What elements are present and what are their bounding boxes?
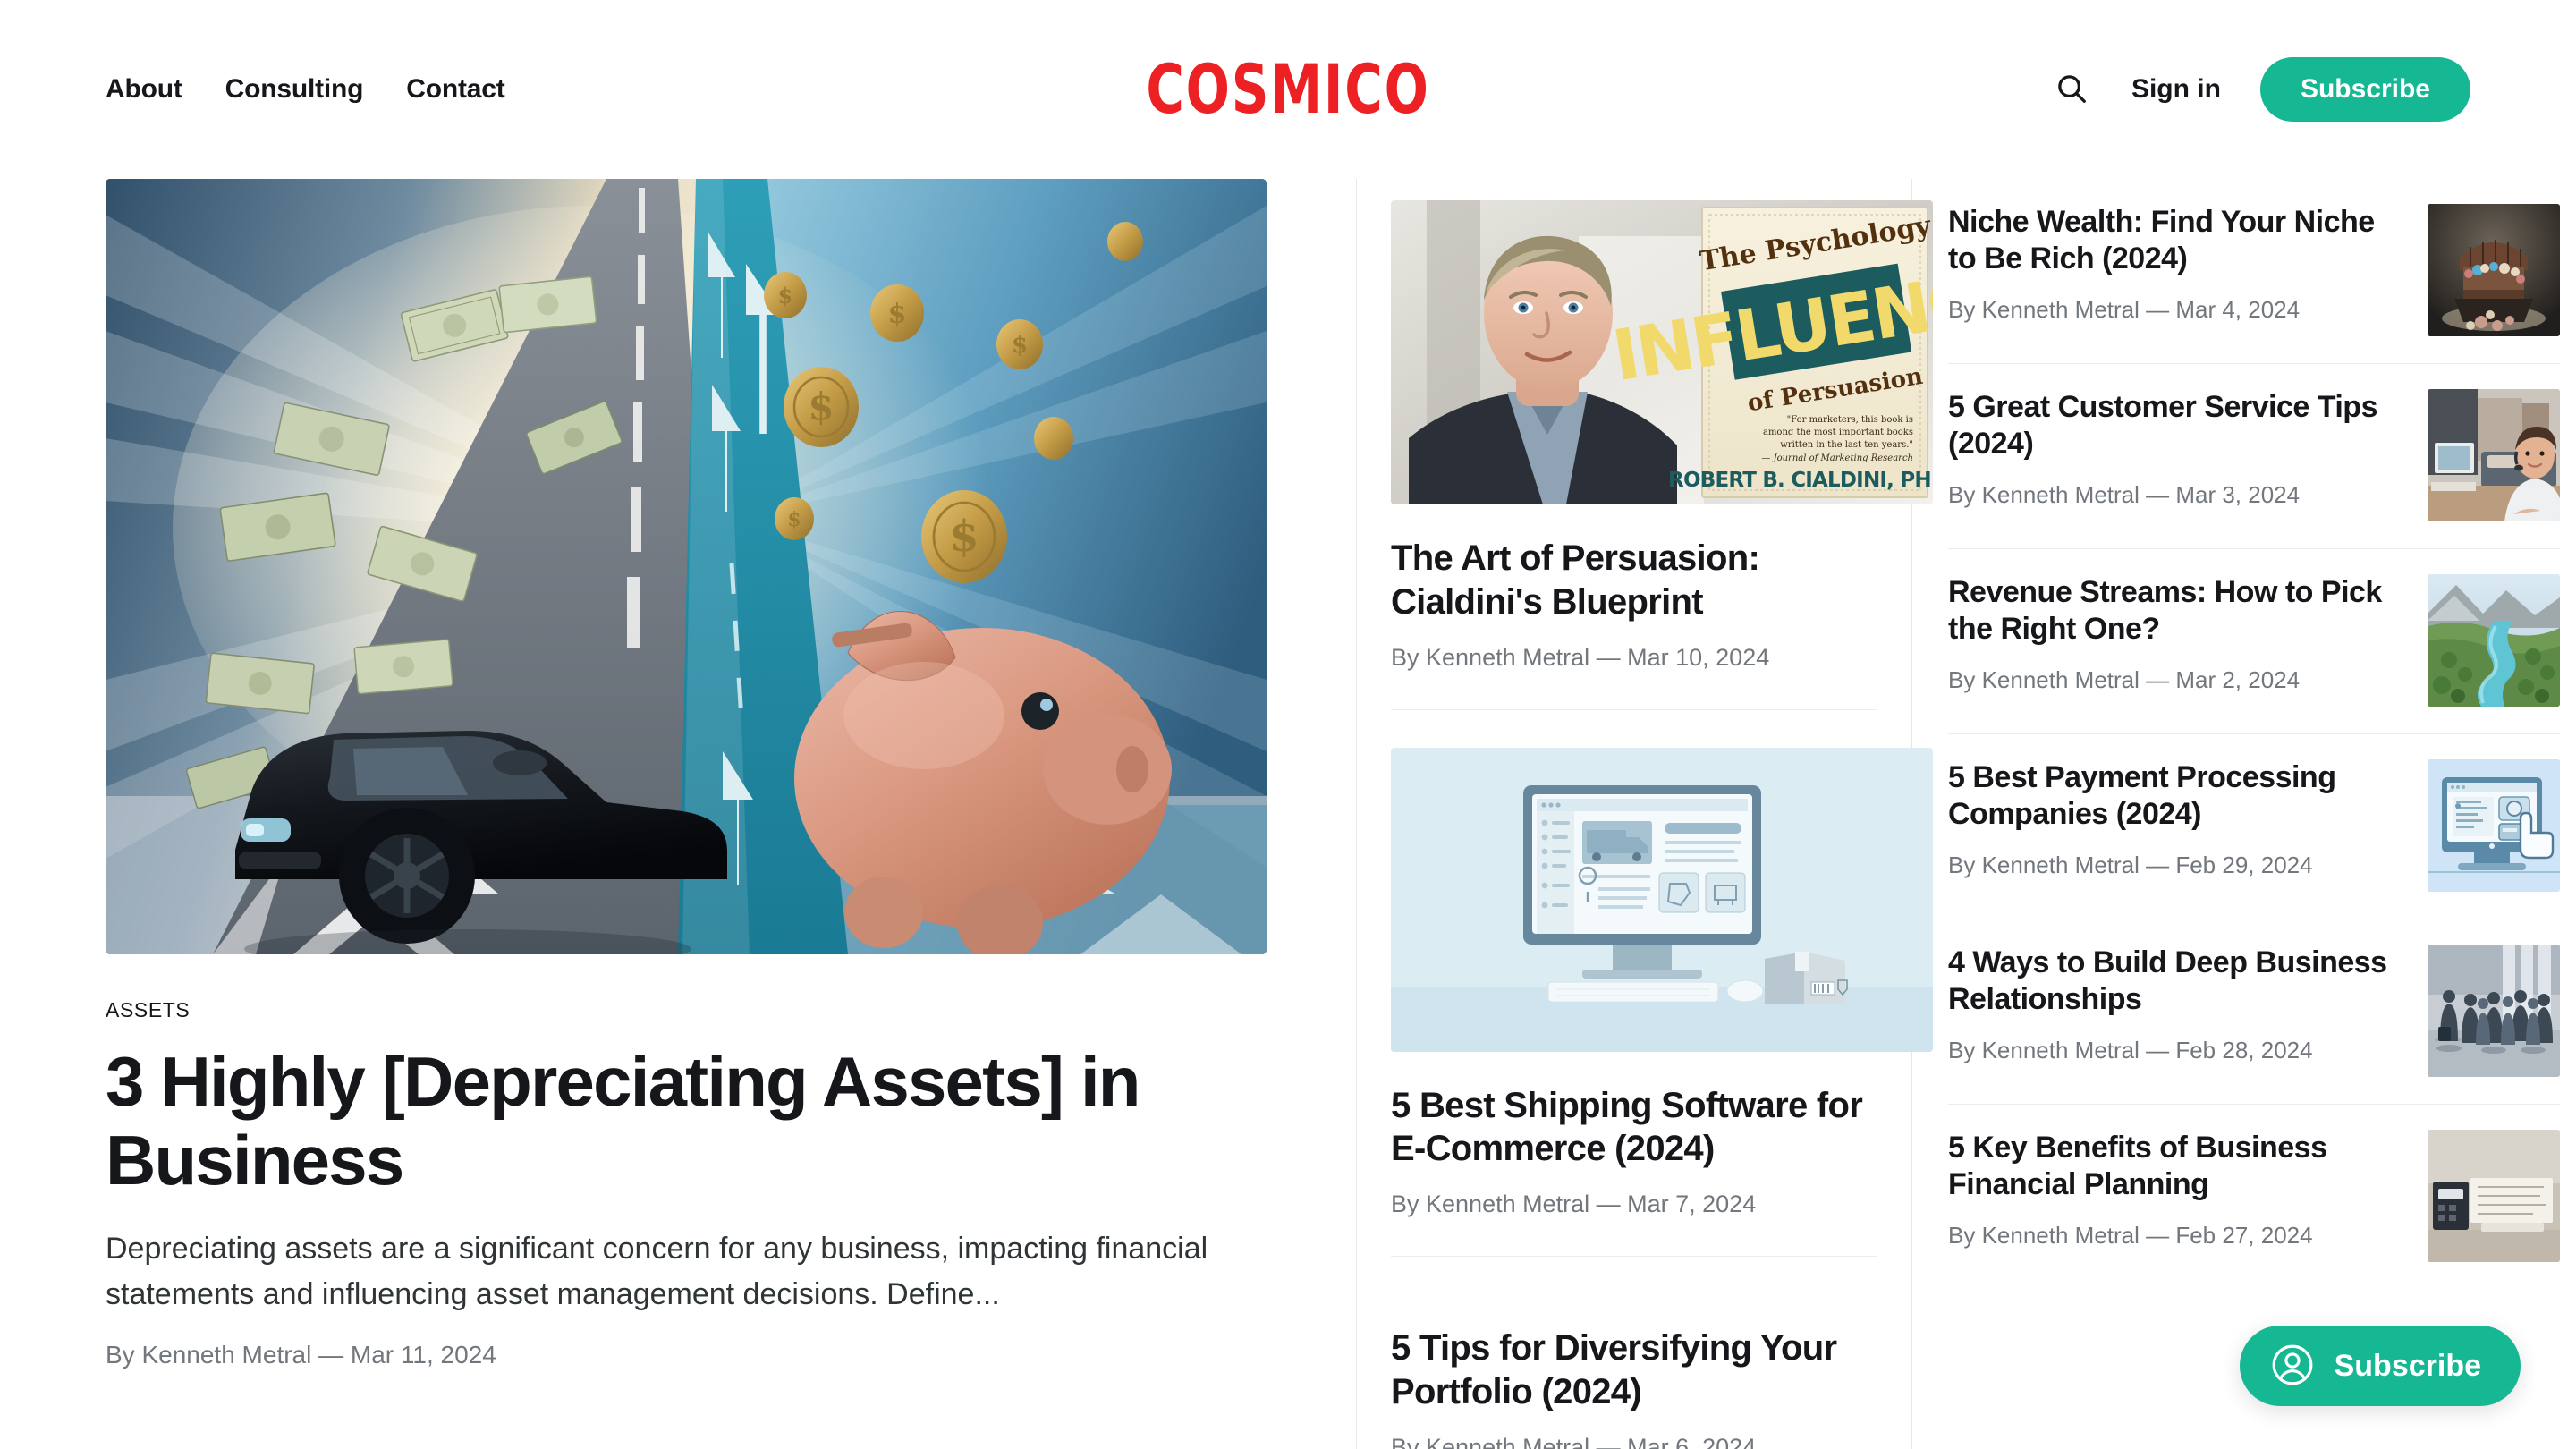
customer-service-agent-icon (2428, 389, 2560, 521)
shipping-dashboard-illustration (1391, 748, 1933, 1052)
svg-text:$: $ (949, 512, 979, 562)
list-item[interactable]: 5 Key Benefits of Business Financial Pla… (1948, 1104, 2560, 1289)
svg-text:$: $ (778, 283, 793, 309)
business-networking-icon (2428, 945, 2560, 1077)
list-item-thumbnail[interactable] (2428, 759, 2560, 892)
article-card[interactable]: 5 Best Shipping Software for E-Commerce … (1391, 709, 1877, 1257)
list-item[interactable]: 4 Ways to Build Deep Business Relationsh… (1948, 919, 2560, 1104)
svg-text:written in the last ten years.: written in the last ten years." (1780, 440, 1913, 450)
treasure-chest-icon (2428, 204, 2560, 336)
svg-text:— Journal of Marketing Researc: — Journal of Marketing Research (1761, 453, 1913, 463)
hero-illustration: $ $ $ $ $ $ $ (106, 179, 1267, 954)
featured-tag[interactable]: ASSETS (106, 998, 1284, 1022)
subscribe-button[interactable]: Subscribe (2260, 57, 2470, 122)
list-item[interactable]: Revenue Streams: How to Pick the Right O… (1948, 548, 2560, 733)
article-title[interactable]: 5 Best Shipping Software for E-Commerce … (1391, 1084, 1877, 1172)
svg-text:$: $ (1012, 332, 1028, 359)
content-grid: $ $ $ $ $ $ $ (0, 179, 2576, 1449)
river-valley-icon (2428, 574, 2560, 707)
list-item[interactable]: Niche Wealth: Find Your Niche to Be Rich… (1948, 179, 2560, 363)
nav-item-contact[interactable]: Contact (406, 74, 504, 105)
list-item-byline: By Kenneth Metral — Feb 29, 2024 (1948, 850, 2404, 881)
svg-text:"For marketers, this book is: "For marketers, this book is (1787, 415, 1913, 425)
signin-link[interactable]: Sign in (2131, 74, 2221, 105)
right-column: Niche Wealth: Find Your Niche to Be Rich… (1912, 179, 2576, 1449)
cialdini-portrait-illustration: The Psychology INFLUENCE of Persuasion "… (1391, 200, 1933, 504)
list-item-byline: By Kenneth Metral — Feb 27, 2024 (1948, 1220, 2404, 1251)
nav-item-about[interactable]: About (106, 74, 182, 105)
list-item-byline: By Kenneth Metral — Feb 28, 2024 (1948, 1035, 2404, 1066)
list-item-byline: By Kenneth Metral — Mar 4, 2024 (1948, 294, 2404, 326)
list-item-thumbnail[interactable] (2428, 945, 2560, 1077)
featured-image[interactable]: $ $ $ $ $ $ $ (106, 179, 1267, 954)
list-item-title[interactable]: 5 Key Benefits of Business Financial Pla… (1948, 1130, 2404, 1204)
list-item-title[interactable]: 4 Ways to Build Deep Business Relationsh… (1948, 945, 2404, 1019)
featured-excerpt: Depreciating assets are a significant co… (106, 1226, 1273, 1317)
search-button[interactable] (2051, 69, 2092, 110)
svg-text:among the most important books: among the most important books (1763, 428, 1913, 437)
list-item-title[interactable]: 5 Best Payment Processing Companies (202… (1948, 759, 2404, 834)
primary-nav: About Consulting Contact (106, 74, 505, 105)
article-byline: By Kenneth Metral — Mar 7, 2024 (1391, 1191, 1877, 1218)
site-logo[interactable]: COSMICO (1134, 58, 1443, 121)
avatar-icon (2270, 1343, 2315, 1390)
list-item[interactable]: 5 Great Customer Service Tips (2024) By … (1948, 363, 2560, 548)
portal-subscribe-button[interactable]: Subscribe (2240, 1326, 2521, 1406)
list-item-thumbnail[interactable] (2428, 204, 2560, 336)
header-actions: Sign in Subscribe (2051, 57, 2470, 122)
article-byline: By Kenneth Metral — Mar 10, 2024 (1391, 644, 1877, 672)
svg-text:$: $ (787, 508, 801, 531)
site-logo-text: COSMICO (1146, 55, 1429, 123)
payment-monitor-icon (2428, 759, 2560, 892)
list-item-title[interactable]: Revenue Streams: How to Pick the Right O… (1948, 574, 2404, 648)
site-header: About Consulting Contact COSMICO Sign in… (0, 0, 2576, 179)
financial-planning-desk-icon (2428, 1130, 2560, 1262)
list-item-thumbnail[interactable] (2428, 389, 2560, 521)
list-item-byline: By Kenneth Metral — Mar 3, 2024 (1948, 479, 2404, 511)
list-item-thumbnail[interactable] (2428, 1130, 2560, 1262)
search-icon (2055, 72, 2089, 108)
featured-article[interactable]: $ $ $ $ $ $ $ (106, 179, 1356, 1449)
list-item-title[interactable]: Niche Wealth: Find Your Niche to Be Rich… (1948, 204, 2404, 278)
article-card[interactable]: 5 Tips for Diversifying Your Portfolio (… (1391, 1256, 1877, 1449)
article-byline: By Kenneth Metral — Mar 6, 2024 (1391, 1434, 1877, 1449)
portal-subscribe-label: Subscribe (2334, 1349, 2481, 1384)
article-title[interactable]: The Art of Persuasion: Cialdini's Bluepr… (1391, 537, 1877, 624)
svg-text:$: $ (808, 385, 834, 428)
article-image-shipping[interactable] (1391, 748, 1933, 1052)
middle-column: The Psychology INFLUENCE of Persuasion "… (1357, 179, 1911, 1449)
article-card[interactable]: The Psychology INFLUENCE of Persuasion "… (1391, 179, 1877, 709)
nav-item-consulting[interactable]: Consulting (225, 74, 364, 105)
featured-byline: By Kenneth Metral — Mar 11, 2024 (106, 1341, 1284, 1369)
list-item-title[interactable]: 5 Great Customer Service Tips (2024) (1948, 389, 2404, 463)
article-image-cialdini[interactable]: The Psychology INFLUENCE of Persuasion "… (1391, 200, 1933, 504)
list-item[interactable]: 5 Best Payment Processing Companies (202… (1948, 733, 2560, 919)
svg-text:$: $ (888, 299, 907, 330)
article-title[interactable]: 5 Tips for Diversifying Your Portfolio (… (1391, 1326, 1877, 1414)
featured-title[interactable]: 3 Highly [Depreciating Assets] in Busine… (106, 1042, 1268, 1199)
list-item-byline: By Kenneth Metral — Mar 2, 2024 (1948, 665, 2404, 696)
svg-text:ROBERT B. CIALDINI, PH.D.: ROBERT B. CIALDINI, PH.D. (1668, 469, 1933, 492)
list-item-thumbnail[interactable] (2428, 574, 2560, 707)
